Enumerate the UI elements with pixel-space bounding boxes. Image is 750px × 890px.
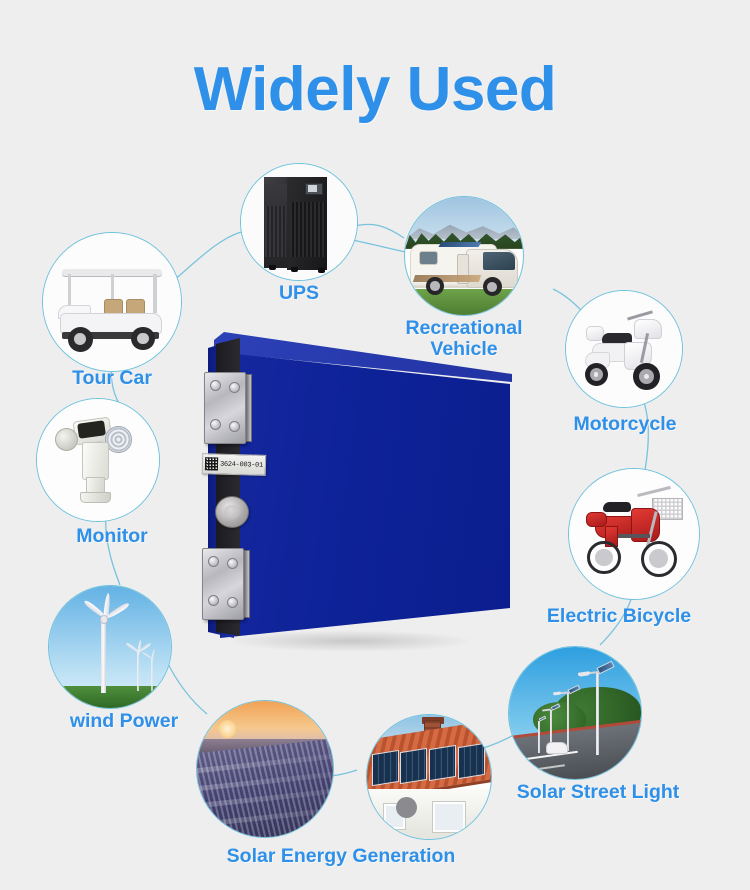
- motorcycle-label: Motorcycle: [560, 414, 690, 435]
- battery-serial-label: 3624-003-01: [202, 453, 267, 476]
- wind-power-label: wind Power: [34, 711, 214, 732]
- recreational-vehicle-image: [404, 196, 524, 316]
- e-bike-illustration: [569, 469, 699, 599]
- battery-product-image: 3624-003-01: [186, 330, 516, 670]
- qr-code-icon: [205, 457, 218, 470]
- wind-power-image: [48, 585, 172, 709]
- scooter-illustration: [566, 291, 682, 407]
- golf-cart-illustration: [43, 233, 181, 371]
- battery-label-code: 3624-003-01: [220, 460, 263, 469]
- electric-bicycle-label: Electric Bicycle: [504, 606, 734, 627]
- application-tour-car[interactable]: Tour Car: [42, 232, 202, 392]
- motorcycle-image: [565, 290, 683, 408]
- battery-terminal-positive: [204, 372, 246, 444]
- application-ups[interactable]: UPS: [240, 163, 380, 323]
- ups-tower-illustration: [241, 164, 357, 280]
- application-solar-energy-generation[interactable]: Solar Energy Generation: [196, 700, 366, 890]
- application-solar-street-light[interactable]: Solar Street Light: [508, 646, 688, 826]
- rooftop-solar-illustration: [367, 715, 491, 839]
- solar-street-light-image: [508, 646, 642, 780]
- application-electric-bicycle[interactable]: Electric Bicycle: [568, 468, 728, 638]
- application-recreational-vehicle[interactable]: Recreational Vehicle: [404, 196, 554, 366]
- application-rooftop-solar[interactable]: [366, 714, 506, 854]
- solar-energy-generation-image: [196, 700, 334, 838]
- application-motorcycle[interactable]: Motorcycle: [565, 290, 705, 450]
- solar-farm-illustration: [197, 701, 333, 837]
- electric-bicycle-image: [568, 468, 700, 600]
- ups-image: [240, 163, 358, 281]
- monitor-label: Monitor: [22, 526, 202, 547]
- infographic-canvas: Widely Used: [0, 0, 750, 888]
- application-wind-power[interactable]: wind Power: [48, 585, 198, 755]
- wind-turbine-illustration: [49, 586, 171, 708]
- solar-street-light-label: Solar Street Light: [498, 782, 698, 803]
- rv-camper-illustration: [405, 197, 523, 315]
- monitor-image: [36, 398, 160, 522]
- solar-energy-generation-label: Solar Energy Generation: [216, 846, 466, 867]
- battery-front-face: [220, 336, 510, 664]
- tour-car-label: Tour Car: [34, 368, 190, 389]
- recreational-vehicle-label: Recreational Vehicle: [376, 318, 552, 360]
- cctv-camera-illustration: [37, 399, 159, 521]
- ups-label: UPS: [229, 283, 369, 304]
- application-monitor[interactable]: Monitor: [36, 398, 186, 568]
- rooftop-solar-image: [366, 714, 492, 840]
- street-light-illustration: [509, 647, 641, 779]
- tour-car-image: [42, 232, 182, 372]
- battery-terminal-negative: [202, 548, 244, 620]
